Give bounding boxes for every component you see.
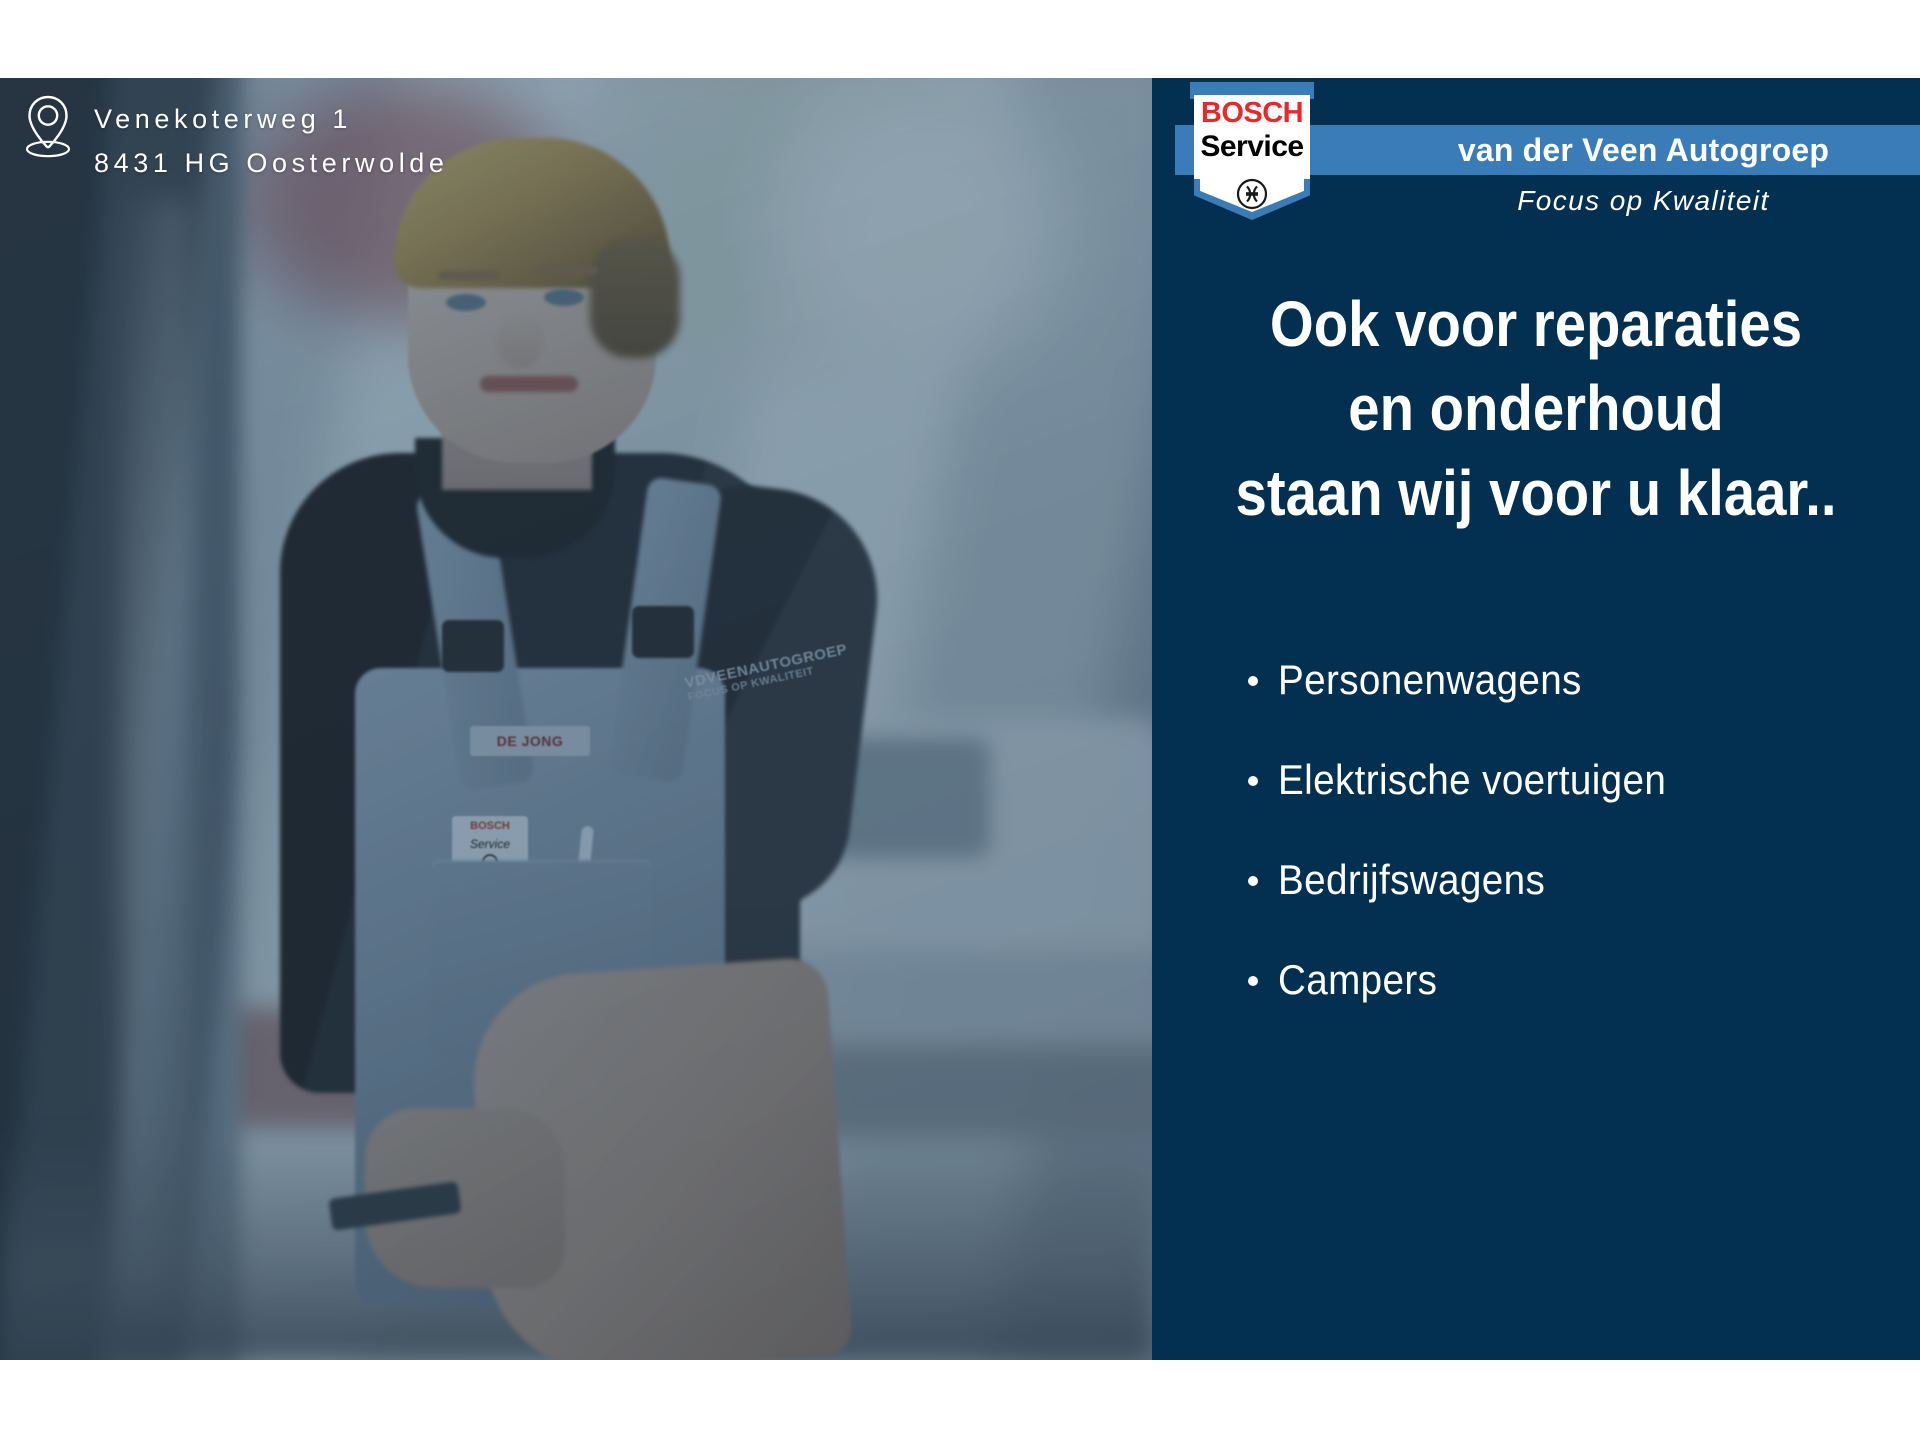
mechanic-photo: DE JONG BOSCH Service VDVEENAUTOGROEP FO… [0, 78, 1152, 1360]
address-line-2: 8431 HG Oosterwolde [94, 142, 449, 186]
info-panel: van der Veen Autogroep Focus op Kwalitei… [1152, 78, 1920, 1360]
service-label: Campers [1278, 956, 1437, 1004]
list-item: Personenwagens [1248, 656, 1888, 704]
bullet-dot-icon [1248, 876, 1258, 886]
bullet-dot-icon [1248, 776, 1258, 786]
bullet-dot-icon [1248, 976, 1258, 986]
address-line-1: Venekoterweg 1 [94, 98, 449, 142]
headline-line-3: staan wij voor u klaar.. [1219, 451, 1853, 535]
list-item: Bedrijfswagens [1248, 856, 1888, 904]
service-label: Bedrijfswagens [1278, 856, 1545, 904]
headline: Ook voor reparaties en onderhoud staan w… [1219, 282, 1853, 535]
service-label: Personenwagens [1278, 656, 1582, 704]
content-band: DE JONG BOSCH Service VDVEENAUTOGROEP FO… [0, 78, 1920, 1360]
headline-line-1: Ook voor reparaties [1219, 282, 1853, 366]
bosch-armature-icon [1236, 178, 1268, 210]
list-item: Campers [1248, 956, 1888, 1004]
company-tagline: Focus op Kwaliteit [1367, 178, 1920, 224]
bosch-service-word: Service [1190, 132, 1314, 162]
address-block: Venekoterweg 1 8431 HG Oosterwolde [24, 94, 449, 185]
bosch-service-logo: BOSCH Service [1190, 82, 1314, 220]
headline-line-2: en onderhoud [1219, 366, 1853, 450]
bosch-wordmark: BOSCH [1190, 99, 1314, 128]
service-label: Elektrische voertuigen [1278, 756, 1666, 804]
advertisement-canvas: DE JONG BOSCH Service VDVEENAUTOGROEP FO… [0, 0, 1920, 1440]
list-item: Elektrische voertuigen [1248, 756, 1888, 804]
bullet-dot-icon [1248, 676, 1258, 686]
map-pin-icon [24, 94, 72, 158]
services-list: Personenwagens Elektrische voertuigen Be… [1248, 656, 1888, 1056]
company-name: van der Veen Autogroep [1367, 125, 1920, 175]
photo-haze-overlay [0, 78, 1152, 1360]
address-lines: Venekoterweg 1 8431 HG Oosterwolde [94, 94, 449, 185]
